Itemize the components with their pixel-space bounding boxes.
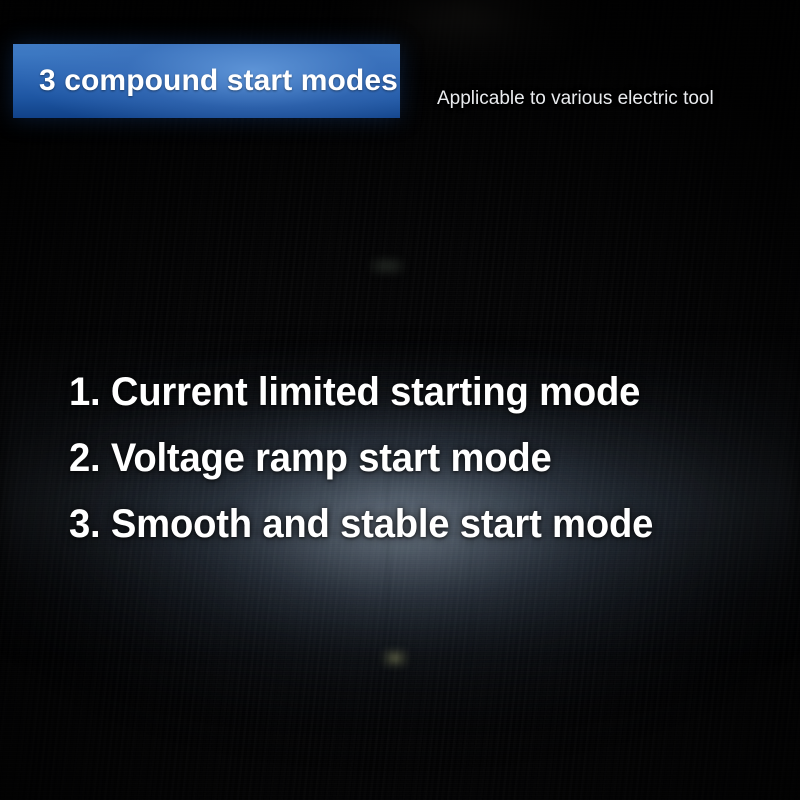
subtitle-text: Applicable to various electric tool	[437, 89, 714, 108]
start-modes-list: 1. Current limited starting mode 2. Volt…	[69, 359, 681, 557]
list-item: 1. Current limited starting mode	[69, 359, 653, 425]
list-item: 2. Voltage ramp start mode	[69, 425, 653, 491]
background-speck-upper	[370, 258, 404, 274]
promo-slide: 3 compound start modes Applicable to var…	[0, 0, 800, 800]
headline-banner: 3 compound start modes	[13, 44, 400, 118]
list-item: 3. Smooth and stable start mode	[69, 491, 653, 557]
background-speck-center	[382, 648, 408, 668]
headline-banner-title: 3 compound start modes	[39, 66, 398, 96]
